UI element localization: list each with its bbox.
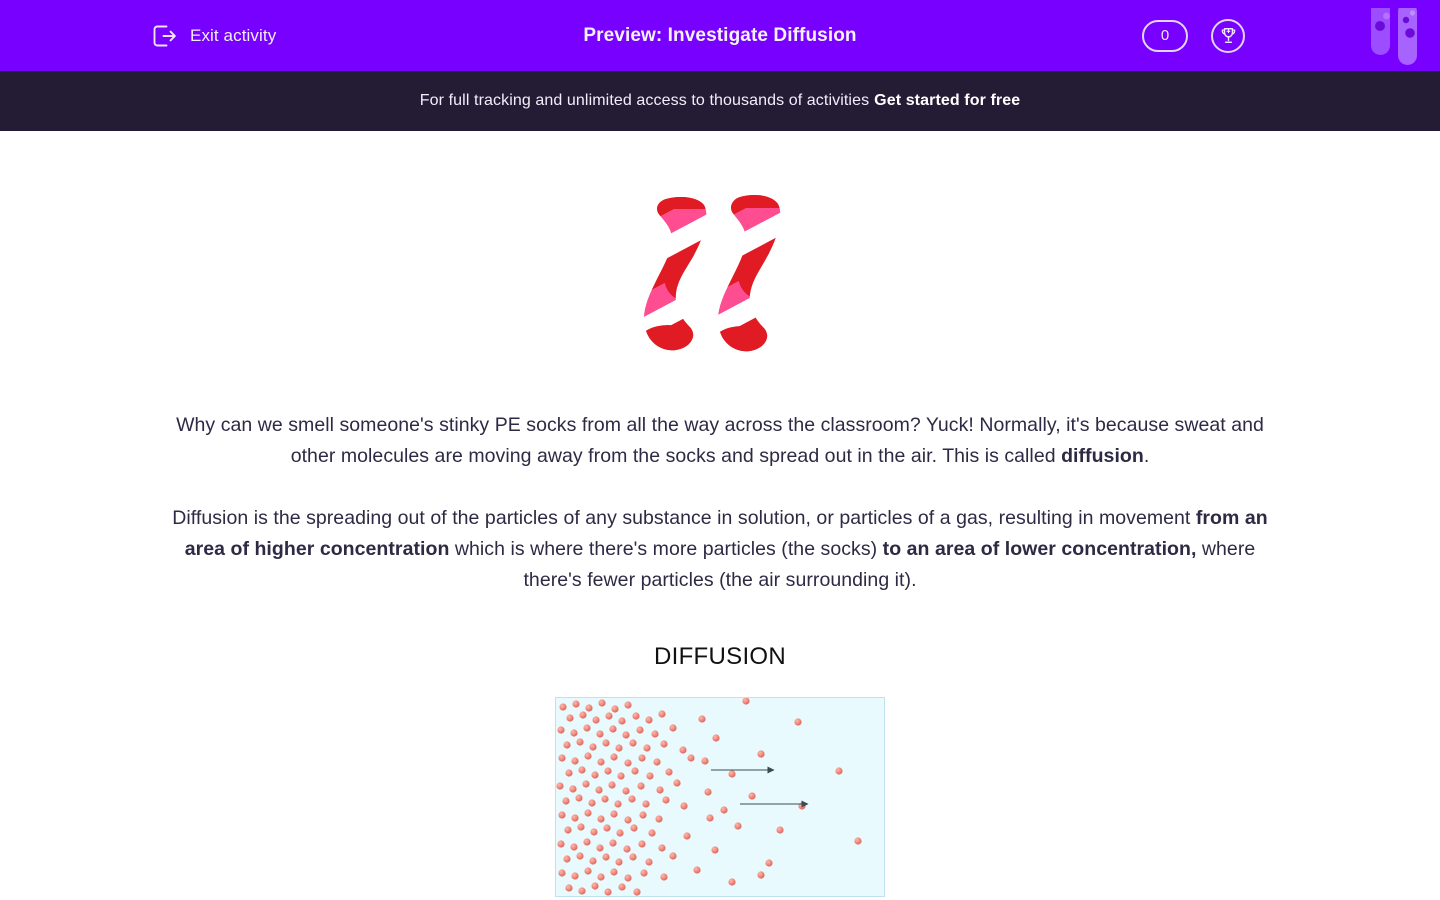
- paragraph-1-tail: .: [1144, 445, 1149, 467]
- paragraph-1-line-1: Why can we smell someone's stinky PE soc…: [176, 414, 974, 436]
- paragraph-2-bold-lower: to an area of lower concentration,: [883, 538, 1197, 560]
- trophy-icon: [1219, 26, 1238, 45]
- particle-field: [556, 698, 885, 897]
- score-counter[interactable]: 0: [1142, 20, 1188, 52]
- get-started-link[interactable]: Get started for free: [874, 92, 1020, 109]
- diagram-title: DIFFUSION: [550, 643, 890, 697]
- body-copy: Why can we smell someone's stinky PE soc…: [155, 410, 1285, 596]
- paragraph-2-lead: Diffusion is the spreading out of the pa…: [172, 507, 1196, 529]
- exit-activity-button[interactable]: Exit activity: [150, 0, 276, 71]
- paragraph-1-bold-diffusion: diffusion: [1061, 445, 1144, 467]
- exit-arrow-icon: [150, 22, 178, 50]
- promo-message: For full tracking and unlimited access t…: [420, 92, 869, 109]
- trophy-button[interactable]: [1211, 19, 1245, 53]
- paragraph-1: Why can we smell someone's stinky PE soc…: [155, 410, 1285, 472]
- top-header-bar: Exit activity Preview: Investigate Diffu…: [0, 0, 1440, 71]
- movement-arrow: [711, 770, 808, 804]
- test-tubes-icon: [1368, 8, 1426, 70]
- diffusion-diagram: DIFFUSION: [550, 643, 890, 897]
- paragraph-2: Diffusion is the spreading out of the pa…: [155, 503, 1285, 596]
- promo-message-wrap: For full tracking and unlimited access t…: [420, 92, 1020, 110]
- hero-image-wrap: [0, 131, 1440, 358]
- diagram-particle-box: [555, 697, 885, 897]
- activity-content: Why can we smell someone's stinky PE soc…: [0, 131, 1440, 900]
- header-actions: 0: [1142, 0, 1245, 71]
- striped-socks-image: [628, 193, 813, 358]
- exit-activity-label: Exit activity: [190, 26, 276, 46]
- promo-banner: For full tracking and unlimited access t…: [0, 71, 1440, 131]
- paragraph-2-mid: which is where there's more particles (t…: [449, 538, 882, 560]
